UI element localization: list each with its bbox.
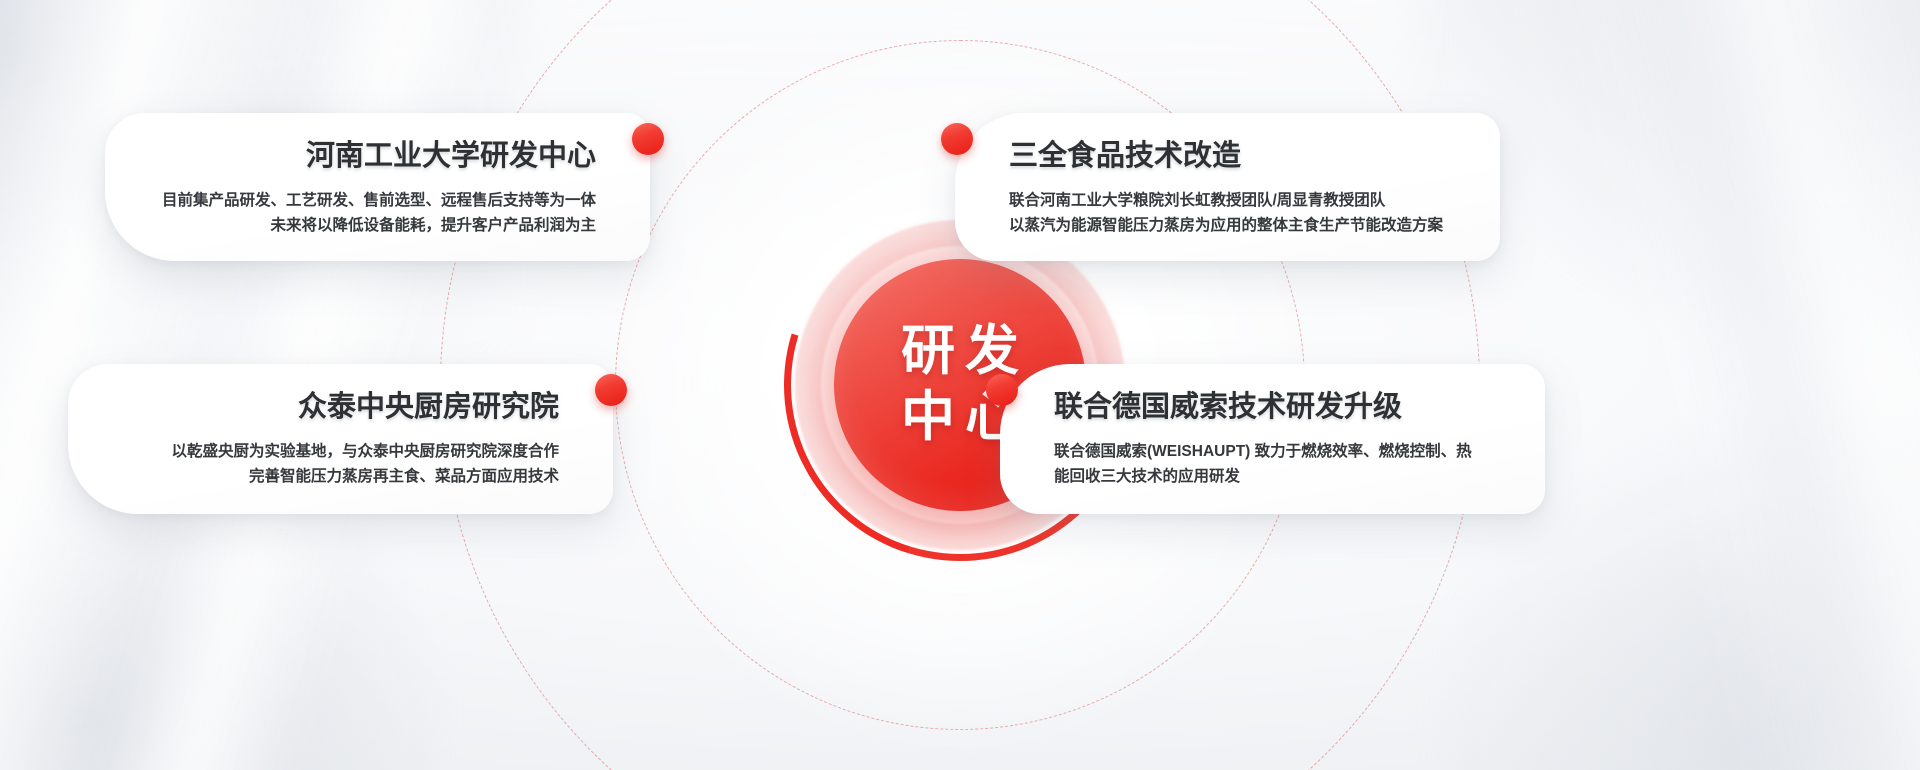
card-body: 联合德国威索(WEISHAUPT) 致力于燃烧效率、燃烧控制、热 能回收三大技术… — [1054, 439, 1504, 489]
card-henan-university-rd-center[interactable]: 河南工业大学研发中心 目前集产品研发、工艺研发、售前选型、远程售后支持等为一体 … — [105, 113, 650, 261]
card-marker-dot-icon — [941, 123, 973, 155]
card-body-line: 能回收三大技术的应用研发 — [1054, 464, 1504, 489]
card-title: 众泰中央厨房研究院 — [98, 390, 559, 425]
card-body-line: 联合德国威索(WEISHAUPT) 致力于燃烧效率、燃烧控制、热 — [1054, 439, 1504, 464]
card-body: 联合河南工业大学粮院刘长虹教授团队/周显青教授团队 以蒸汽为能源智能压力蒸房为应… — [1009, 188, 1470, 238]
card-weishaupt-joint-rd-upgrade[interactable]: 联合德国威索技术研发升级 联合德国威索(WEISHAUPT) 致力于燃烧效率、燃… — [1000, 364, 1545, 514]
card-body-line: 以蒸汽为能源智能压力蒸房为应用的整体主食生产节能改造方案 — [1009, 213, 1470, 238]
card-body-line: 联合河南工业大学粮院刘长虹教授团队/周显青教授团队 — [1009, 188, 1470, 213]
card-title: 河南工业大学研发中心 — [135, 139, 596, 174]
card-zhongtai-central-kitchen-institute[interactable]: 众泰中央厨房研究院 以乾盛央厨为实验基地，与众泰中央厨房研究院深度合作 完善智能… — [68, 364, 613, 514]
card-marker-dot-icon — [595, 374, 627, 406]
card-body-line: 目前集产品研发、工艺研发、售前选型、远程售后支持等为一体 — [135, 188, 596, 213]
background-light-band-3 — [1523, 0, 1920, 770]
card-sanquan-food-tech-upgrade[interactable]: 三全食品技术改造 联合河南工业大学粮院刘长虹教授团队/周显青教授团队 以蒸汽为能… — [955, 113, 1500, 261]
card-body-line: 以乾盛央厨为实验基地，与众泰中央厨房研究院深度合作 — [98, 439, 559, 464]
card-body: 目前集产品研发、工艺研发、售前选型、远程售后支持等为一体 未来将以降低设备能耗，… — [135, 188, 596, 238]
background-corner-shade-top-right — [1440, 0, 1920, 360]
card-body: 以乾盛央厨为实验基地，与众泰中央厨房研究院深度合作 完善智能压力蒸房再主食、菜品… — [98, 439, 559, 489]
card-body-line: 未来将以降低设备能耗，提升客户产品利润为主 — [135, 213, 596, 238]
card-title: 联合德国威索技术研发升级 — [1054, 390, 1515, 425]
card-title: 三全食品技术改造 — [1009, 139, 1470, 174]
card-body-line: 完善智能压力蒸房再主食、菜品方面应用技术 — [98, 464, 559, 489]
card-marker-dot-icon — [986, 374, 1018, 406]
infographic-stage: 研发 中心 河南工业大学研发中心 目前集产品研发、工艺研发、售前选型、远程售后支… — [0, 0, 1920, 770]
card-marker-dot-icon — [632, 123, 664, 155]
background-light-band-4 — [1497, 0, 1920, 770]
